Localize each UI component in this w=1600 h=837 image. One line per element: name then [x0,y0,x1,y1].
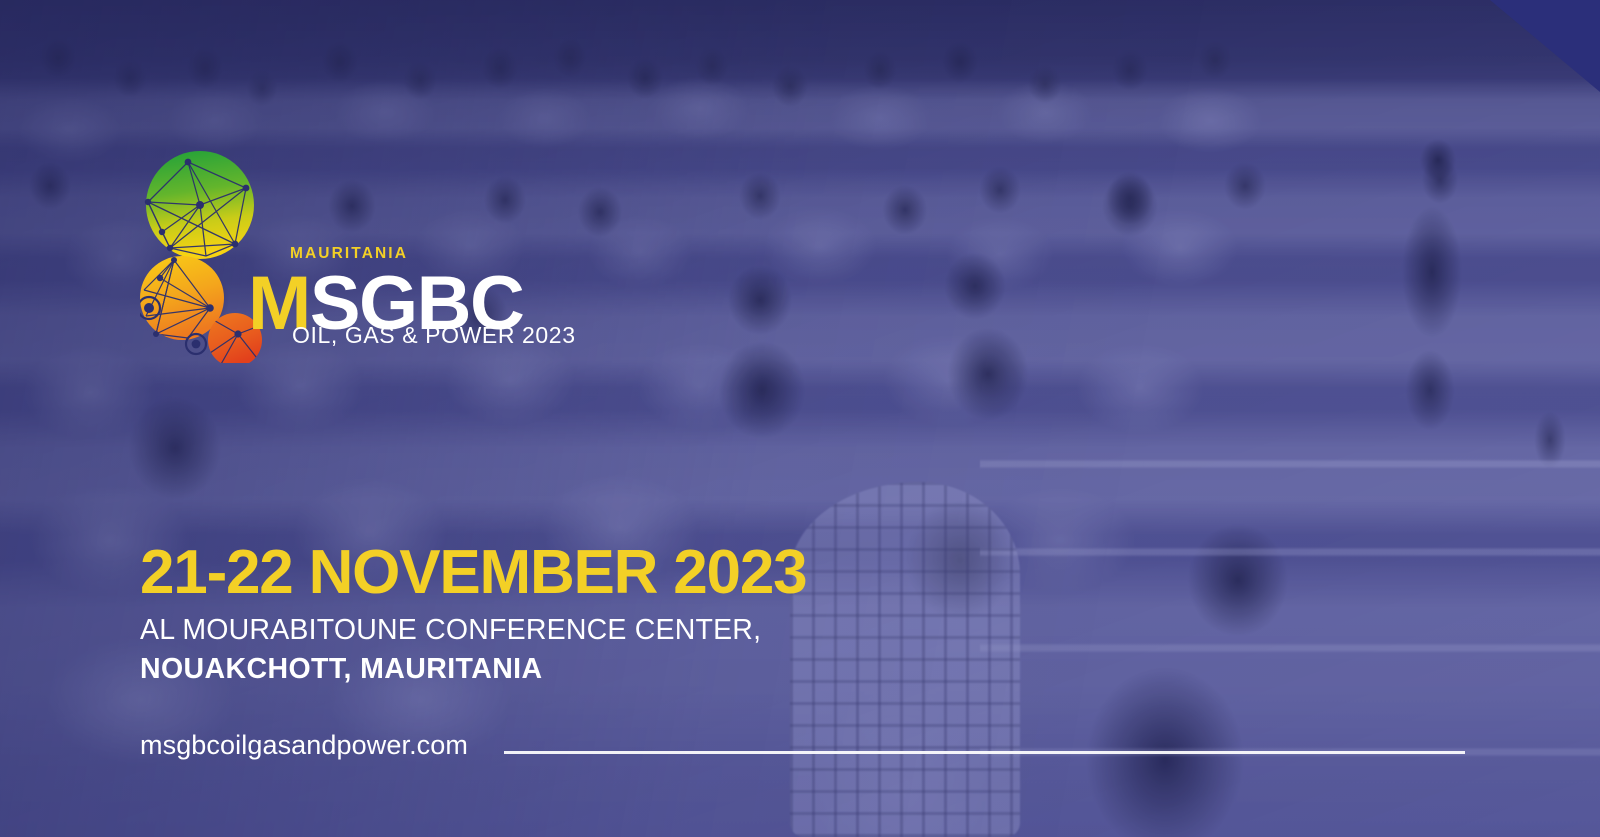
event-date: 21-22 NOVEMBER 2023 [140,540,1040,605]
logo-country-label: MAURITANIA [290,246,408,262]
event-city: NOUAKCHOTT, MAURITANIA [140,652,1040,686]
footer: msgbcoilgasandpower.com [140,725,1465,765]
logo-tagline: OIL, GAS & POWER 2023 [292,324,576,347]
msgbc-logo[interactable]: MAURITANIA MSGBC OIL, GAS & POWER 2023 [140,148,525,363]
event-banner: MAURITANIA MSGBC OIL, GAS & POWER 2023 2… [0,0,1600,837]
website-url[interactable]: msgbcoilgasandpower.com [140,732,468,759]
msgbc-network-circles-icon [140,148,265,363]
left-vignette [0,0,1600,837]
footer-divider [504,751,1465,754]
event-details: 21-22 NOVEMBER 2023 AL MOURABITOUNE CONF… [140,540,1040,686]
background-photo [0,0,1600,837]
event-venue: AL MOURABITOUNE CONFERENCE CENTER, [140,613,1040,647]
